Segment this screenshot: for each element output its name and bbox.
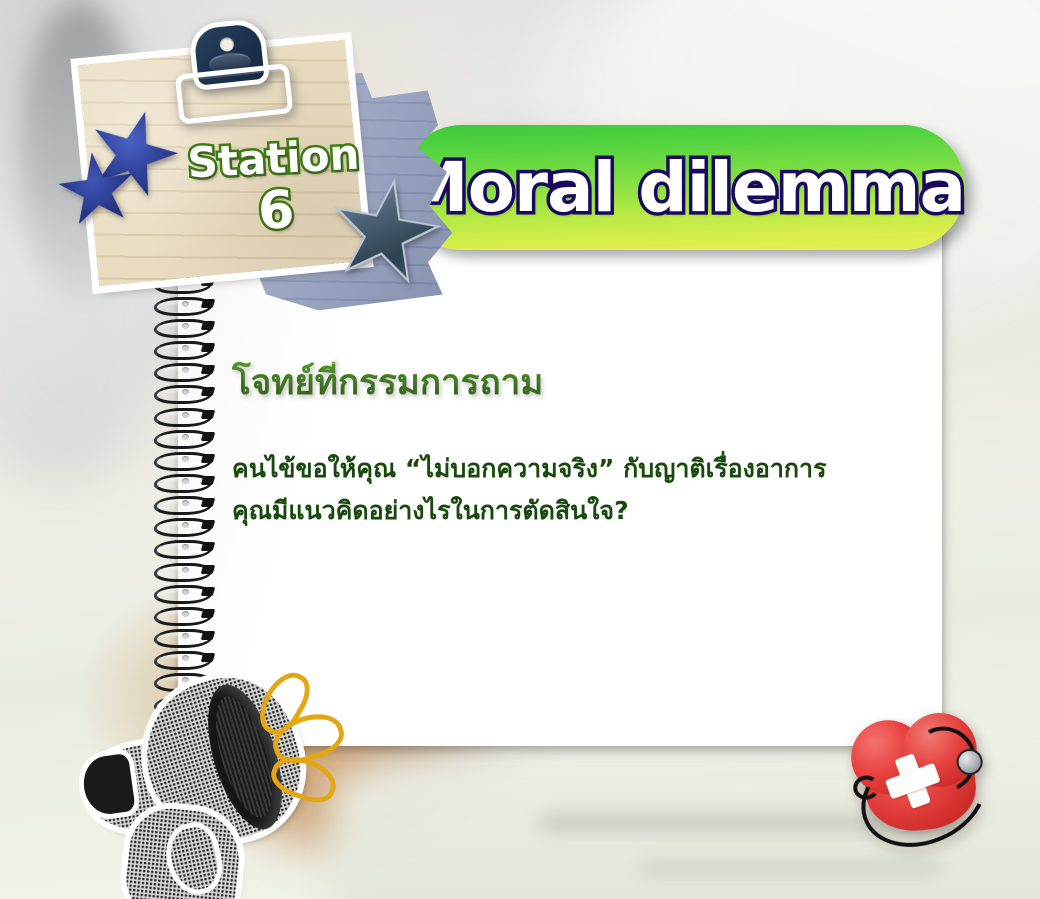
spiral-ring xyxy=(152,363,212,376)
spiral-ring-hole xyxy=(182,412,189,418)
spiral-ring-cap xyxy=(201,387,216,396)
station-number: 6 xyxy=(170,179,383,245)
spiral-ring-hole xyxy=(182,589,189,595)
clipboard-clip-icon xyxy=(175,21,288,127)
star-blue-lower-icon xyxy=(53,147,141,233)
spiral-ring xyxy=(152,496,212,509)
spiral-ring xyxy=(152,540,212,553)
star-blue-lower-shape xyxy=(53,147,141,233)
spiral-ring xyxy=(152,518,212,531)
spiral-ring xyxy=(152,629,212,642)
spiral-ring-cap xyxy=(201,410,216,419)
spiral-ring-hole xyxy=(182,323,189,329)
station-label: Station 6 xyxy=(168,133,383,244)
station-card-stack: Station 6 xyxy=(40,12,440,322)
spiral-ring-hole xyxy=(182,456,189,462)
spiral-ring xyxy=(152,563,212,576)
spiral-ring-cap xyxy=(201,520,216,529)
station-word: Station xyxy=(168,133,380,186)
spiral-ring xyxy=(152,607,212,620)
body-line-1: คนไข้ขอให้คุณ “ไม่บอกความจริง” กับญาติเร… xyxy=(232,448,902,491)
spiral-ring xyxy=(152,408,212,421)
spiral-ring-cap xyxy=(201,365,216,374)
clip-bar xyxy=(180,69,288,120)
title-banner: Moral dilemma xyxy=(400,125,965,250)
bg-desk-edge-2 xyxy=(640,862,940,874)
megaphone-icon xyxy=(88,660,338,895)
spiral-ring-cap xyxy=(201,343,216,352)
spiral-ring-hole xyxy=(182,567,189,573)
spiral-ring xyxy=(152,341,212,354)
spiral-ring-cap xyxy=(201,476,216,485)
body-line-2: คุณมีแนวคิดอย่างไรในการตัดสินใจ? xyxy=(232,490,902,533)
spiral-ring xyxy=(152,585,212,598)
spiral-ring-cap xyxy=(201,631,216,640)
title-banner-text: Moral dilemma xyxy=(400,148,965,228)
megaphone-back-cap xyxy=(80,753,136,817)
spiral-ring-hole xyxy=(182,611,189,617)
spiral-ring-hole xyxy=(182,478,189,484)
page-content: โจทย์ที่กรรมการถาม คนไข้ขอให้คุณ “ไม่บอก… xyxy=(232,362,902,533)
spiral-ring-cap xyxy=(201,609,216,618)
spiral-ring-cap xyxy=(201,498,216,507)
spiral-ring-cap xyxy=(201,587,216,596)
heart-shape xyxy=(846,707,993,842)
heart-stethoscope-icon xyxy=(846,708,1026,858)
spiral-ring-cap xyxy=(201,542,216,551)
page-heading: โจทย์ที่กรรมการถาม xyxy=(232,362,902,406)
spiral-ring-hole xyxy=(182,434,189,440)
spiral-ring-cap xyxy=(201,432,216,441)
spiral-ring-cap xyxy=(201,454,216,463)
spiral-ring-cap xyxy=(201,321,216,330)
spiral-ring xyxy=(152,430,212,443)
spiral-ring xyxy=(152,385,212,398)
spiral-ring-cap xyxy=(201,565,216,574)
spiral-ring xyxy=(152,474,212,487)
spiral-ring xyxy=(152,452,212,465)
slide-root: โจทย์ที่กรรมการถาม คนไข้ขอให้คุณ “ไม่บอก… xyxy=(0,0,1040,899)
